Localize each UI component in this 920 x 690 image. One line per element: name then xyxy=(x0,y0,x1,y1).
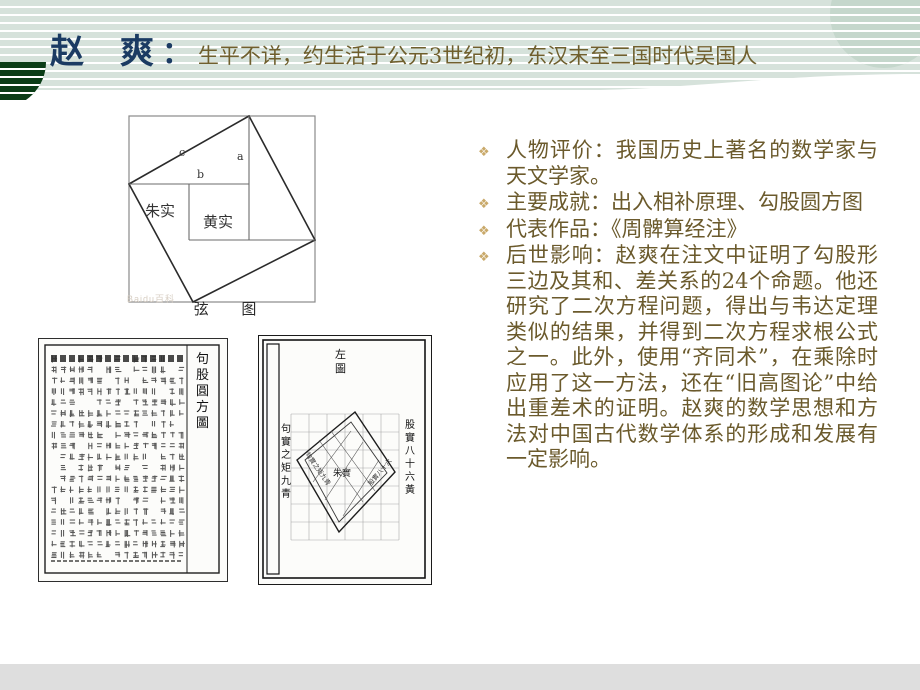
bullet-text: 后世影响：赵爽在注文中证明了勾股形三边及其和、差关系的24个命题。他还研究了二次… xyxy=(506,243,878,473)
scan-image-zuotu: 左 圖 句 實 之 矩 九 青 股 實 八 十 六 xyxy=(258,335,432,585)
scan-right-svg: 左 圖 句 實 之 矩 九 青 股 實 八 十 六 xyxy=(259,336,429,582)
diamond-bullet-icon: ❖ xyxy=(478,190,506,210)
scan-right-heading: 左 圖 xyxy=(335,348,346,375)
label-a: a xyxy=(237,150,244,163)
diamond-bullet-icon: ❖ xyxy=(478,217,506,237)
scan-left-svg: 句 股 圓 方 圖 xyxy=(39,339,225,579)
svg-text:九: 九 xyxy=(281,475,291,487)
svg-text:股: 股 xyxy=(196,368,209,383)
slide-content: c a b 朱实 黄实 Baidu百科 弦 图 句 股 xyxy=(0,100,920,665)
svg-text:矩: 矩 xyxy=(281,461,291,474)
bullet-text: 主要成就：出入相补原理、勾股圆方图 xyxy=(506,190,878,216)
svg-text:左: 左 xyxy=(335,348,346,361)
svg-text:句: 句 xyxy=(196,352,209,367)
list-item: ❖ 人物评价：我国历史上著名的数学家与天文学家。 xyxy=(478,138,878,189)
scan-right-center-label: 朱實 xyxy=(333,467,351,479)
scan-image-gougu-yuanfangtu: 句 股 圓 方 圖 xyxy=(38,338,228,582)
bullet-list: ❖ 人物评价：我国历史上著名的数学家与天文学家。 ❖ 主要成就：出入相补原理、勾… xyxy=(478,138,878,474)
svg-text:八: 八 xyxy=(405,446,415,457)
list-item: ❖ 代表作品：《周髀算经注》 xyxy=(478,217,878,243)
bottom-status-bar xyxy=(0,664,920,690)
label-c: c xyxy=(179,146,185,159)
svg-text:十: 十 xyxy=(405,457,415,470)
bullet-text: 代表作品：《周髀算经注》 xyxy=(506,217,878,243)
slide-root: 赵 爽 ： 生平不详，约生活于公元3世纪初，东汉末至三国时代吴国人 c a xyxy=(0,0,920,690)
scan-left-title: 句 股 圓 方 圖 xyxy=(196,352,209,431)
slide-title: 赵 爽 ： 生平不详，约生活于公元3世纪初，东汉末至三国时代吴国人 xyxy=(50,28,757,72)
svg-text:圖: 圖 xyxy=(196,416,209,431)
svg-text:六: 六 xyxy=(405,471,415,483)
diamond-bullet-icon: ❖ xyxy=(478,243,506,263)
svg-text:句: 句 xyxy=(281,422,291,435)
svg-text:實: 實 xyxy=(281,435,291,448)
list-item: ❖ 主要成就：出入相补原理、勾股圆方图 xyxy=(478,190,878,216)
label-zhushi: 朱实 xyxy=(145,202,175,220)
svg-text:青: 青 xyxy=(281,487,291,500)
title-person-name: 赵 爽 xyxy=(50,35,166,69)
svg-text:股: 股 xyxy=(405,419,415,431)
svg-text:實: 實 xyxy=(405,431,415,444)
xiantu-caption: 弦 图 xyxy=(125,298,325,319)
title-colon: ： xyxy=(162,28,192,72)
svg-text:圖: 圖 xyxy=(335,362,346,375)
label-huangshi: 黄实 xyxy=(203,213,233,231)
list-item: ❖ 后世影响：赵爽在注文中证明了勾股形三边及其和、差关系的24个命题。他还研究了… xyxy=(478,243,878,473)
xiantu-diagram: c a b 朱实 黄实 Baidu百科 xyxy=(125,112,325,327)
svg-text:圓: 圓 xyxy=(196,384,209,399)
bullet-text: 人物评价：我国历史上著名的数学家与天文学家。 xyxy=(506,138,878,189)
diamond-bullet-icon: ❖ xyxy=(478,138,506,158)
svg-text:黃: 黃 xyxy=(405,483,415,496)
title-subtitle: 生平不详，约生活于公元3世纪初，东汉末至三国时代吴国人 xyxy=(198,46,757,67)
xiantu-svg: c a b 朱实 黄实 xyxy=(125,112,325,312)
svg-text:之: 之 xyxy=(281,448,291,461)
label-b: b xyxy=(197,168,204,181)
svg-text:方: 方 xyxy=(196,399,209,415)
